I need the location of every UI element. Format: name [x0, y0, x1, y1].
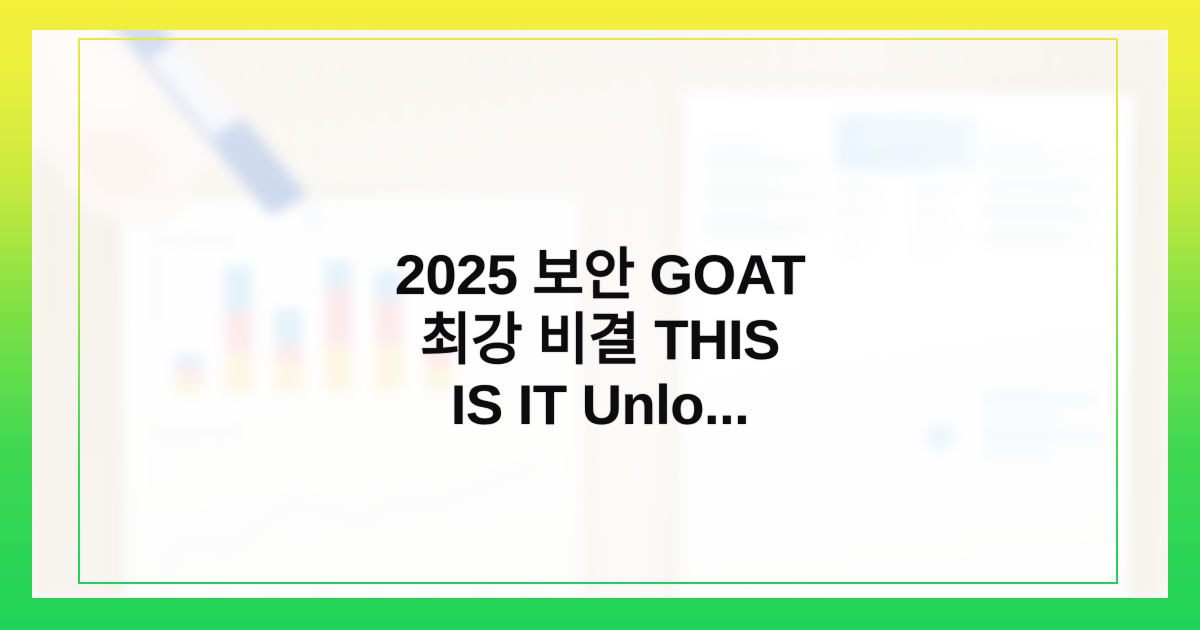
headline-line-2: 최강 비결 THIS — [152, 308, 1048, 373]
background-photo: Chart summary — [32, 30, 1168, 598]
headline-line-3: IS IT Unlo... — [152, 373, 1048, 438]
page-title: 2025 보안 GOAT 최강 비결 THIS IS IT Unlo... — [32, 243, 1168, 438]
headline-line-1: 2025 보안 GOAT — [152, 243, 1048, 308]
thumbnail-card: Chart summary — [0, 0, 1200, 630]
